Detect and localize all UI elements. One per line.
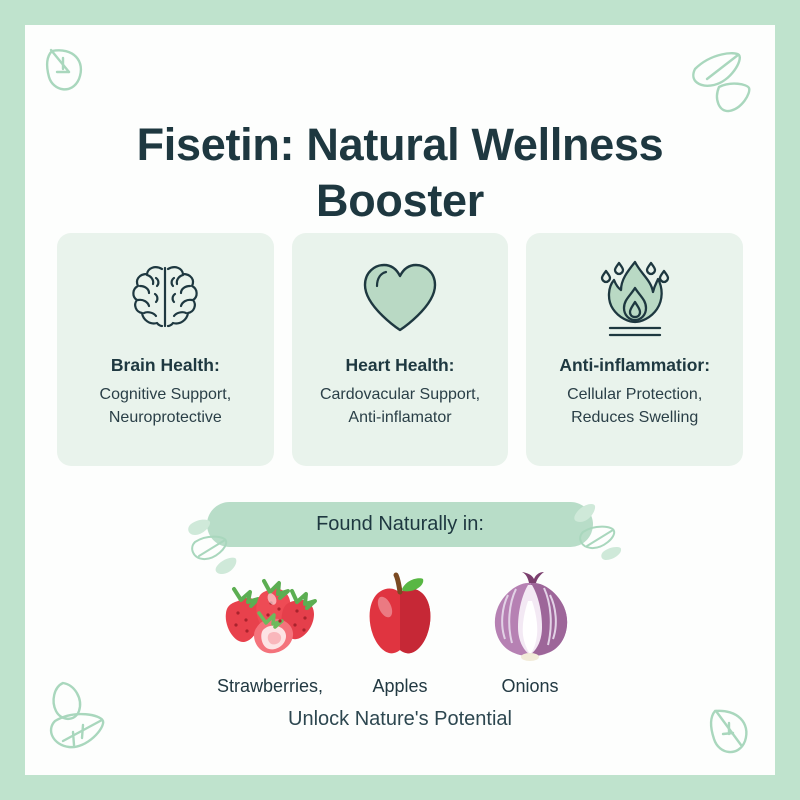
card-description: Cardovacular Support, Anti-inflamator	[320, 384, 480, 429]
food-label: Apples	[372, 676, 427, 697]
found-naturally-banner[interactable]: Found Naturally in:	[207, 502, 593, 547]
poster-canvas: Fisetin: Natural Wellness Booster	[25, 25, 775, 775]
card-description: Cellular Protection, Reduces Swelling	[567, 384, 702, 429]
banner-label: Found Naturally in:	[316, 513, 484, 536]
food-label: Onions	[501, 676, 558, 697]
page-title: Fisetin: Natural Wellness Booster	[25, 117, 775, 230]
poster-frame: Fisetin: Natural Wellness Booster	[0, 0, 800, 800]
heart-icon	[357, 255, 443, 341]
card-description-line: Anti-inflamator	[320, 407, 480, 430]
card-description-line: Cognitive Support,	[100, 384, 232, 407]
strawberries-icon	[214, 570, 326, 662]
benefit-card-brain[interactable]: Brain Health: Cognitive Support, Neuropr…	[57, 233, 274, 466]
card-description-line: Neuroprotective	[100, 407, 232, 430]
food-item-onions[interactable]: Onions	[476, 570, 584, 697]
footer-tagline: Unlock Nature's Potential	[25, 708, 775, 731]
apple-icon	[355, 570, 445, 662]
card-description: Cognitive Support, Neuroprotective	[100, 384, 232, 429]
leaf-pair-icon	[687, 39, 761, 119]
benefit-card-anti-inflammation[interactable]: Anti-inflammatior: Cellular Protection, …	[526, 233, 743, 466]
food-item-strawberries[interactable]: Strawberries,	[216, 570, 324, 697]
card-description-line: Cardovacular Support,	[320, 384, 480, 407]
benefit-cards: Brain Health: Cognitive Support, Neuropr…	[57, 233, 743, 466]
card-title: Brain Health:	[111, 355, 220, 376]
food-sources: Strawberries, Apples	[25, 570, 775, 697]
food-label: Strawberries,	[217, 676, 323, 697]
card-title: Anti-inflammatior:	[559, 355, 710, 376]
card-description-line: Reduces Swelling	[567, 407, 702, 430]
card-title: Heart Health:	[346, 355, 455, 376]
card-description-line: Cellular Protection,	[567, 384, 702, 407]
onion-icon	[484, 570, 576, 662]
found-naturally-row: Found Naturally in:	[25, 502, 775, 547]
food-item-apples[interactable]: Apples	[346, 570, 454, 697]
leaf-icon	[39, 39, 93, 97]
benefit-card-heart[interactable]: Heart Health: Cardovacular Support, Anti…	[292, 233, 509, 466]
brain-icon	[123, 255, 207, 341]
flame-icon	[591, 255, 679, 341]
